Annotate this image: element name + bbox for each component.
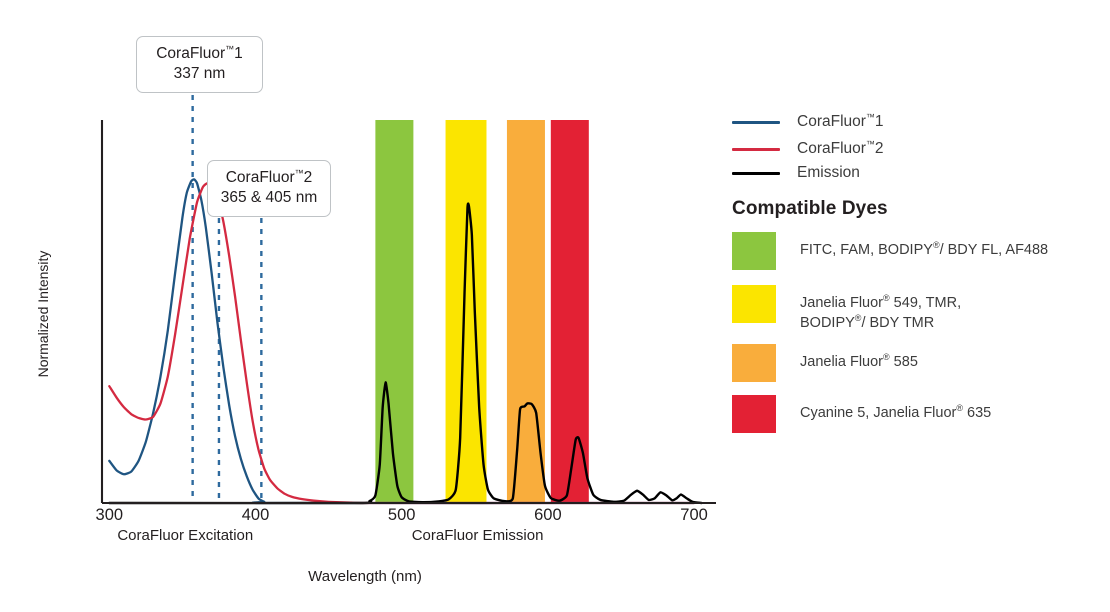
dye-row-red: Cyanine 5, Janelia Fluor® 635 — [732, 395, 991, 433]
dye-row-orange: Janelia Fluor® 585 — [732, 344, 918, 382]
figure-root: Normalized Intensity 300400500600700 Cor… — [0, 0, 1110, 612]
dye-swatch-green — [732, 232, 776, 270]
x-axis-title: Wavelength (nm) — [0, 568, 730, 585]
dye-swatch-orange — [732, 344, 776, 382]
x-tick-600: 600 — [529, 506, 567, 525]
legend-series-corafluor1: CoraFluor™1 — [732, 113, 884, 131]
callout-corafluor2: CoraFluor™2 365 & 405 nm — [207, 160, 331, 217]
legend-panel: CoraFluor™1 CoraFluor™2 Emission Compati… — [728, 0, 1110, 612]
excitation-marker-lines — [193, 95, 262, 503]
legend-series-label-corafluor1: CoraFluor™1 — [797, 113, 884, 131]
legend-series-label-emission: Emission — [797, 164, 860, 182]
legend-series-emission: Emission — [732, 164, 860, 182]
legend-line-swatch-corafluor2 — [732, 148, 780, 151]
dye-label-red: Cyanine 5, Janelia Fluor® 635 — [800, 395, 991, 423]
legend-series-label-corafluor2: CoraFluor™2 — [797, 140, 884, 158]
dye-row-green: FITC, FAM, BODIPY®/ BDY FL, AF488 — [732, 232, 1048, 270]
callout-corafluor1: CoraFluor™1 337 nm — [136, 36, 263, 93]
region-label-excitation: CoraFluor Excitation — [117, 527, 253, 544]
x-tick-700: 700 — [675, 506, 713, 525]
y-axis-title: Normalized Intensity — [35, 234, 51, 394]
dye-swatch-yellow — [732, 285, 776, 323]
legend-line-swatch-corafluor1 — [732, 121, 780, 124]
x-tick-400: 400 — [237, 506, 275, 525]
callout-cf1-line1: CoraFluor™1 — [149, 44, 250, 64]
dye-label-green: FITC, FAM, BODIPY®/ BDY FL, AF488 — [800, 232, 1048, 260]
dye-row-yellow: Janelia Fluor® 549, TMR, BODIPY®/ BDY TM… — [732, 285, 961, 333]
compatible-dyes-heading: Compatible Dyes — [732, 198, 888, 220]
chart-svg — [0, 0, 730, 560]
legend-series-corafluor2: CoraFluor™2 — [732, 140, 884, 158]
callout-cf1-line2: 337 nm — [149, 64, 250, 84]
legend-line-swatch-emission — [732, 172, 780, 175]
callout-cf2-line2: 365 & 405 nm — [220, 188, 318, 208]
dye-label-yellow: Janelia Fluor® 549, TMR, BODIPY®/ BDY TM… — [800, 285, 961, 333]
region-label-emission: CoraFluor Emission — [412, 527, 544, 544]
x-tick-500: 500 — [383, 506, 421, 525]
red-band — [551, 120, 589, 503]
x-tick-300: 300 — [90, 506, 128, 525]
spectra-chart: Normalized Intensity 300400500600700 Cor… — [0, 0, 730, 612]
callout-cf2-line1: CoraFluor™2 — [220, 168, 318, 188]
dye-label-orange: Janelia Fluor® 585 — [800, 344, 918, 372]
dye-swatch-red — [732, 395, 776, 433]
yellow-band — [446, 120, 487, 503]
